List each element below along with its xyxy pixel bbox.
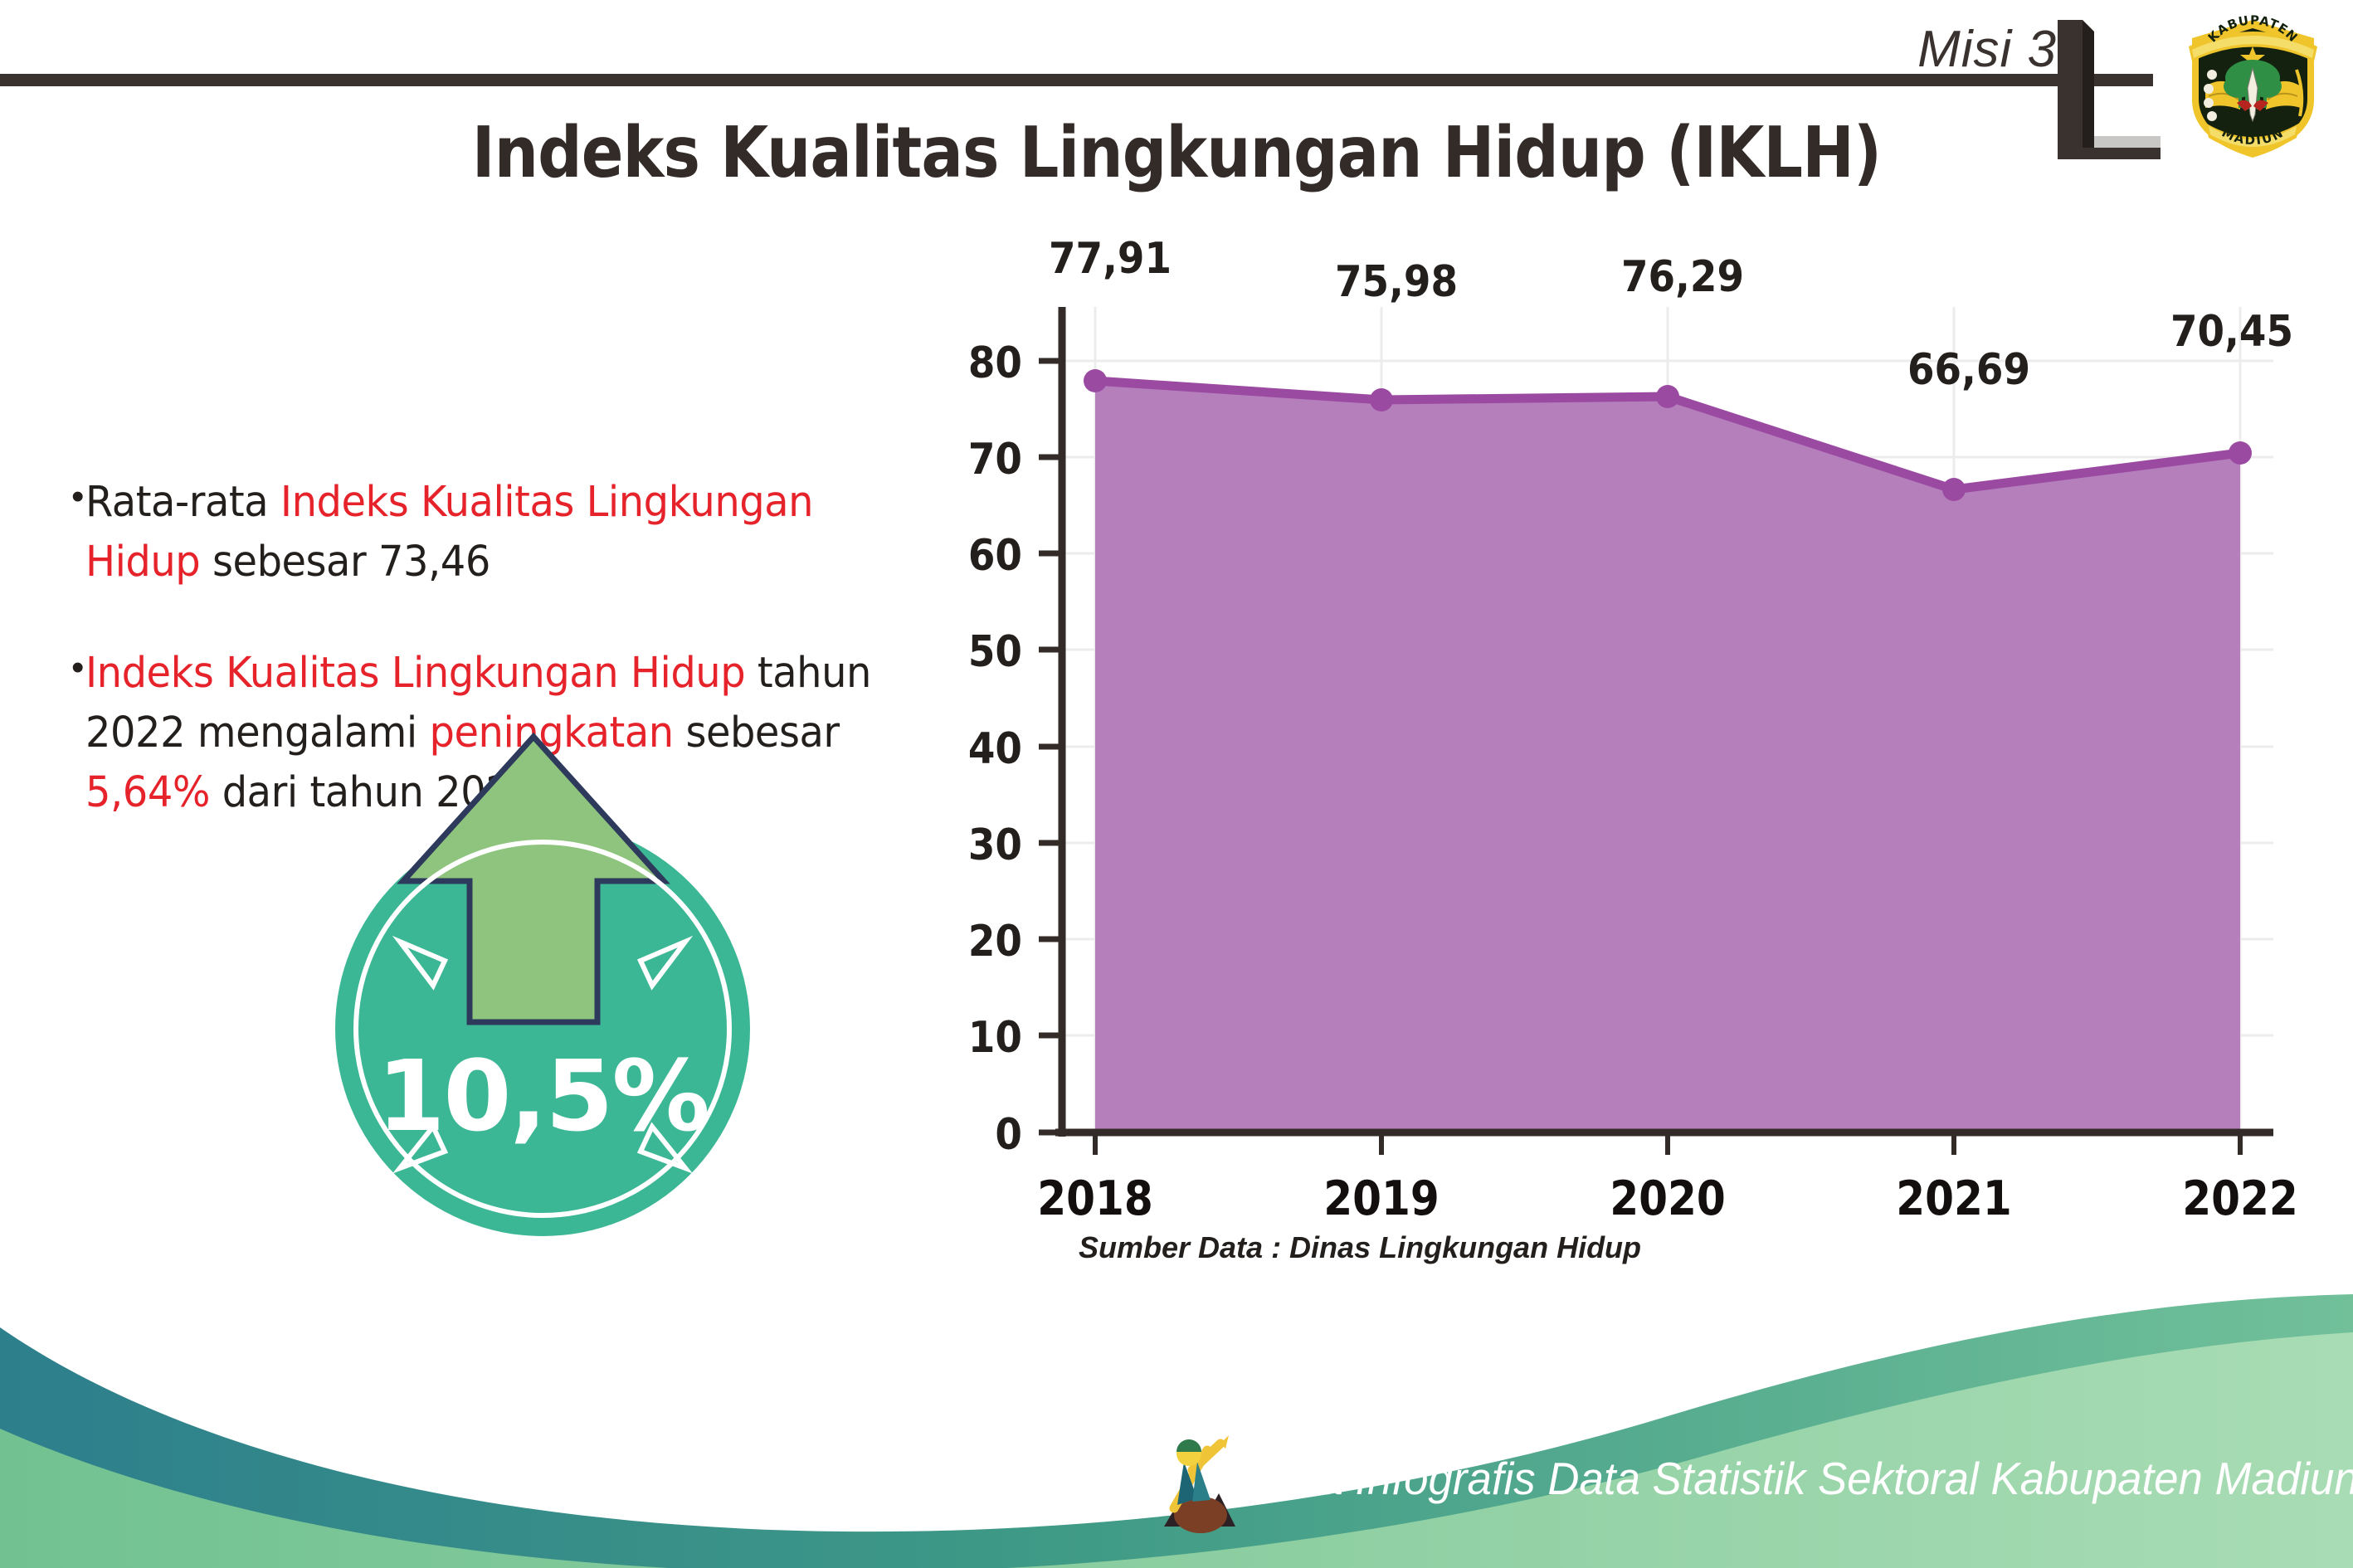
badge-tick-marks-icon bbox=[335, 821, 750, 1236]
bullet-seg-4: 5,64% bbox=[85, 768, 210, 817]
iklh-area-chart: 80 70 60 50 40 30 20 10 0 2018 2019 2020… bbox=[979, 274, 2273, 1211]
bullet-dot-icon: • bbox=[71, 644, 84, 692]
x-tick-label-2022: 2022 bbox=[2156, 1171, 2324, 1226]
data-label-2021: 66,69 bbox=[1887, 345, 2051, 395]
bullet-seg-0: Rata-rata bbox=[85, 478, 280, 527]
x-tick-label-2020: 2020 bbox=[1584, 1171, 1751, 1226]
data-label-2018: 77,91 bbox=[1028, 234, 1192, 284]
data-label-2020: 76,29 bbox=[1600, 252, 1765, 302]
y-tick-label-70: 70 bbox=[940, 435, 1022, 485]
bullet-item-average: • Rata-rata Indeks Kualitas Lingkungan H… bbox=[71, 473, 976, 592]
page-title: Indeks Kualitas Lingkungan Hidup (IKLH) bbox=[141, 112, 2212, 194]
y-tick-label-20: 20 bbox=[940, 917, 1022, 967]
x-tick-label-2019: 2019 bbox=[1298, 1171, 1465, 1226]
area-series-fill bbox=[1095, 381, 2240, 1132]
y-tick-label-30: 30 bbox=[940, 821, 1022, 870]
footer-caption: Media Infografis Data Statistik Sektoral… bbox=[1224, 1452, 2353, 1505]
chart-source-note: Sumber Data : Dinas Lingkungan Hidup bbox=[1079, 1230, 1641, 1265]
y-tick-label-80: 80 bbox=[940, 338, 1022, 388]
change-badge: 10,5% bbox=[335, 821, 750, 1236]
bullet-text-average: Rata-rata Indeks Kualitas Lingkungan Hid… bbox=[85, 473, 922, 592]
y-tick-label-0: 0 bbox=[940, 1110, 1022, 1160]
y-tick-label-50: 50 bbox=[940, 627, 1022, 677]
bullet-dot-icon: • bbox=[71, 473, 84, 521]
y-tick-label-60: 60 bbox=[940, 531, 1022, 581]
x-tick-label-2021: 2021 bbox=[1870, 1171, 2038, 1226]
x-tick-label-2018: 2018 bbox=[1011, 1171, 1179, 1226]
header-divider-line bbox=[0, 74, 2153, 86]
bullet-seg-0: Indeks Kualitas Lingkungan Hidup bbox=[85, 649, 745, 698]
y-tick-label-40: 40 bbox=[940, 724, 1022, 774]
y-tick-label-10: 10 bbox=[940, 1013, 1022, 1063]
data-label-2022: 70,45 bbox=[2150, 307, 2314, 357]
bullet-seg-3: sebesar bbox=[674, 709, 840, 757]
bullet-seg-2: sebesar 73,46 bbox=[201, 538, 491, 587]
badge-value-label: 10,5% bbox=[335, 1047, 750, 1145]
data-label-2019: 75,98 bbox=[1314, 257, 1479, 307]
chart-plot-area bbox=[979, 274, 2273, 1211]
mission-label: Misi 3 bbox=[1917, 20, 2057, 79]
